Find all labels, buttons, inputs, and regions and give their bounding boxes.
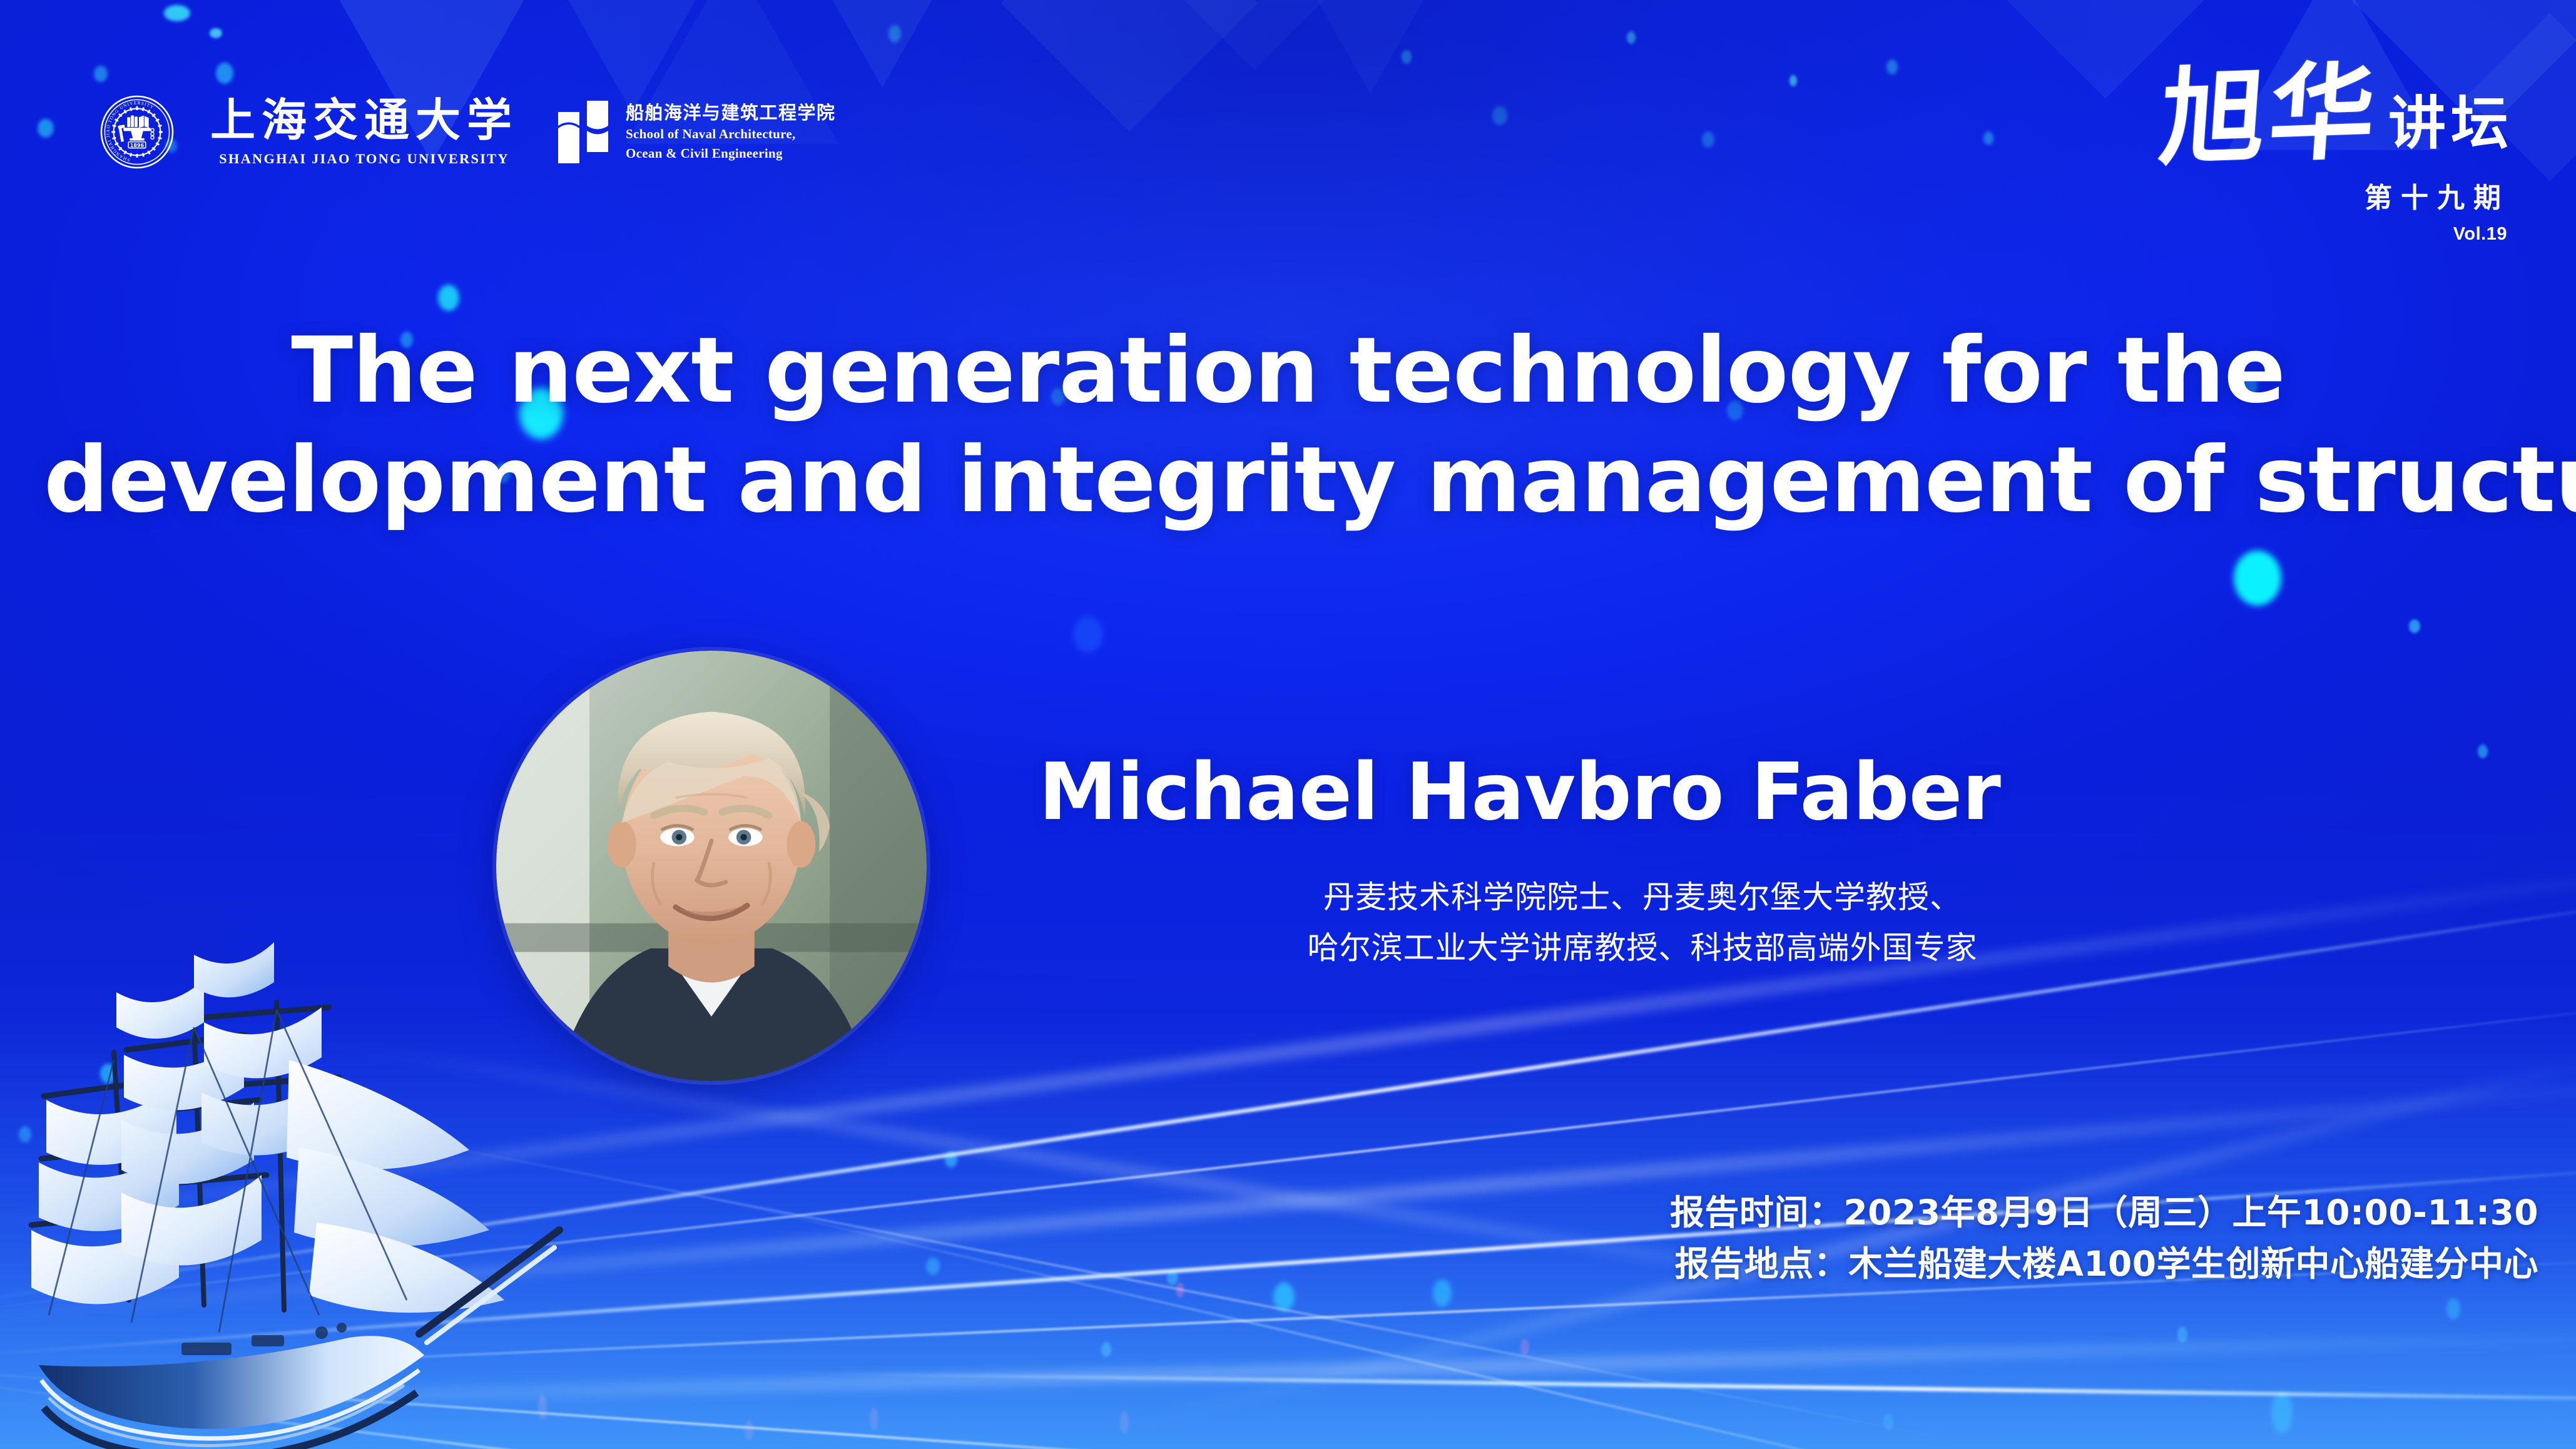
sjtu-wordmark: 上海交通大学 SHANGHAI JIAO TONG UNIVERSITY <box>210 98 518 167</box>
institution-logos: 1896 SHANGHAI JIAO TONG UNIVERSITY 上海交通大… <box>100 95 836 169</box>
forum-name: 讲坛 <box>2388 95 2513 161</box>
school-name-en-line1: School of Naval Architecture, <box>626 126 836 143</box>
sjtu-name-cn: 上海交通大学 <box>210 98 518 143</box>
lecture-title: The next generation technology for the d… <box>0 316 2576 536</box>
sjtu-name-en: SHANGHAI JIAO TONG UNIVERSITY <box>219 151 509 167</box>
speaker-info: Michael Havbro Faber 丹麦技术科学院院士、丹麦奥尔堡大学教授… <box>1039 751 2290 974</box>
school-logo-group: 船舶海洋与建筑工程学院 School of Naval Architecture… <box>554 98 836 166</box>
forum-volume: Vol.19 <box>2161 224 2513 245</box>
forum-calligraphy: 旭华 <box>2157 65 2381 165</box>
sailing-ship-icon <box>0 902 569 1449</box>
title-line-1: The next generation technology for the <box>44 316 2532 425</box>
event-details: 报告时间：2023年8月9日（周三）上午10:00-11:30 报告地点：木兰船… <box>1670 1187 2538 1289</box>
event-time: 报告时间：2023年8月9日（周三）上午10:00-11:30 <box>1670 1187 2538 1238</box>
credentials-line-1: 丹麦技术科学院院士、丹麦奥尔堡大学教授、 <box>1039 872 2246 923</box>
school-name-en-line2: Ocean & Civil Engineering <box>626 146 836 162</box>
forum-brand: 旭华 讲坛 第十九期 Vol.19 <box>2161 69 2513 245</box>
school-name-block: 船舶海洋与建筑工程学院 School of Naval Architecture… <box>626 103 836 162</box>
credentials-line-2: 哈尔滨工业大学讲席教授、科技部高端外国专家 <box>1039 923 2246 974</box>
seal-year: 1896 <box>130 143 145 148</box>
speaker-credentials: 丹麦技术科学院院士、丹麦奥尔堡大学教授、 哈尔滨工业大学讲席教授、科技部高端外国… <box>1039 872 2290 974</box>
sjtu-seal-icon: 1896 SHANGHAI JIAO TONG UNIVERSITY <box>100 95 174 169</box>
poster-header: 1896 SHANGHAI JIAO TONG UNIVERSITY 上海交通大… <box>0 0 2576 206</box>
title-line-2: development and integrity management of … <box>44 425 2532 535</box>
lecture-poster: 1896 SHANGHAI JIAO TONG UNIVERSITY 上海交通大… <box>0 0 2576 1449</box>
naval-school-mark-icon <box>554 98 612 166</box>
school-name-cn: 船舶海洋与建筑工程学院 <box>626 103 836 123</box>
speaker-name: Michael Havbro Faber <box>1039 751 2290 833</box>
event-venue: 报告地点：木兰船建大楼A100学生创新中心船建分中心 <box>1670 1239 2538 1289</box>
forum-issue: 第十九期 <box>2161 175 2513 215</box>
